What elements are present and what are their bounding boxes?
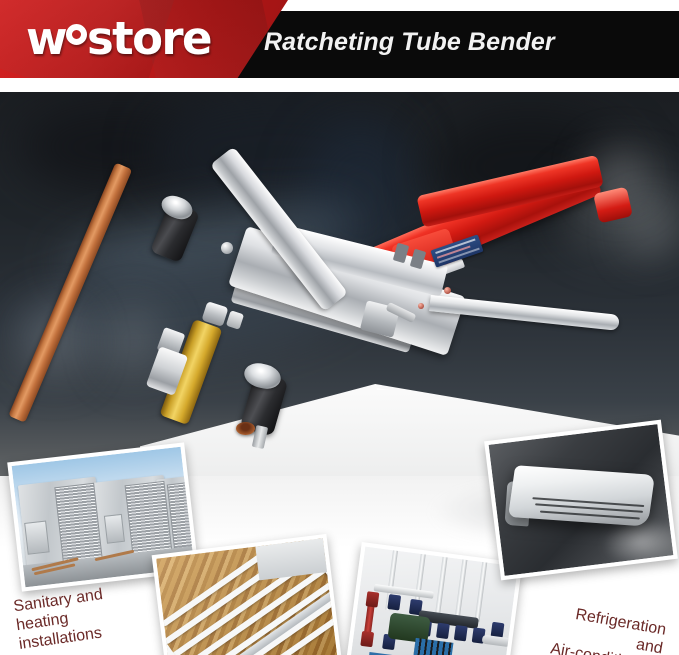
hydraulic-manifold-photo: [348, 547, 518, 655]
chrome-release-lever: [429, 295, 620, 331]
wing-screw-nut: [226, 310, 244, 330]
banner-header: wstore Ratcheting Tube Bender: [0, 0, 679, 92]
brand-prefix-text: w: [26, 12, 66, 65]
condenser-grille: [125, 481, 173, 557]
red-valve: [360, 631, 374, 647]
brand-suffix-text: store: [87, 12, 211, 65]
hero-image: Sanitary and heating installations Floor…: [0, 92, 679, 655]
pivot-screw: [221, 242, 233, 254]
control-box: [104, 514, 125, 544]
product-marketing-banner: wstore Ratcheting Tube Bender: [0, 0, 679, 655]
handle-rivet: [444, 287, 451, 294]
red-handle-tip: [593, 187, 633, 224]
brand-o-ring-icon: [66, 24, 87, 45]
red-valve: [366, 591, 380, 607]
application-thumbnail-refrigeration: [484, 420, 678, 581]
manifold-valve: [436, 623, 450, 639]
manifold-valve: [454, 625, 468, 641]
product-title: Ratcheting Tube Bender: [264, 28, 555, 57]
underfloor-heating-pipes-photo: [156, 538, 340, 655]
handle-rivet: [418, 303, 424, 309]
application-thumbnail-floor-heating: [152, 534, 345, 655]
application-thumbnail-hydraulic: [344, 542, 523, 655]
split-air-conditioner-photo: [489, 424, 674, 576]
control-box: [24, 520, 49, 554]
copper-tube-end: [236, 422, 255, 435]
blue-valve: [387, 594, 401, 610]
copper-tube: [8, 162, 132, 422]
brand-logo: wstore: [26, 16, 211, 61]
